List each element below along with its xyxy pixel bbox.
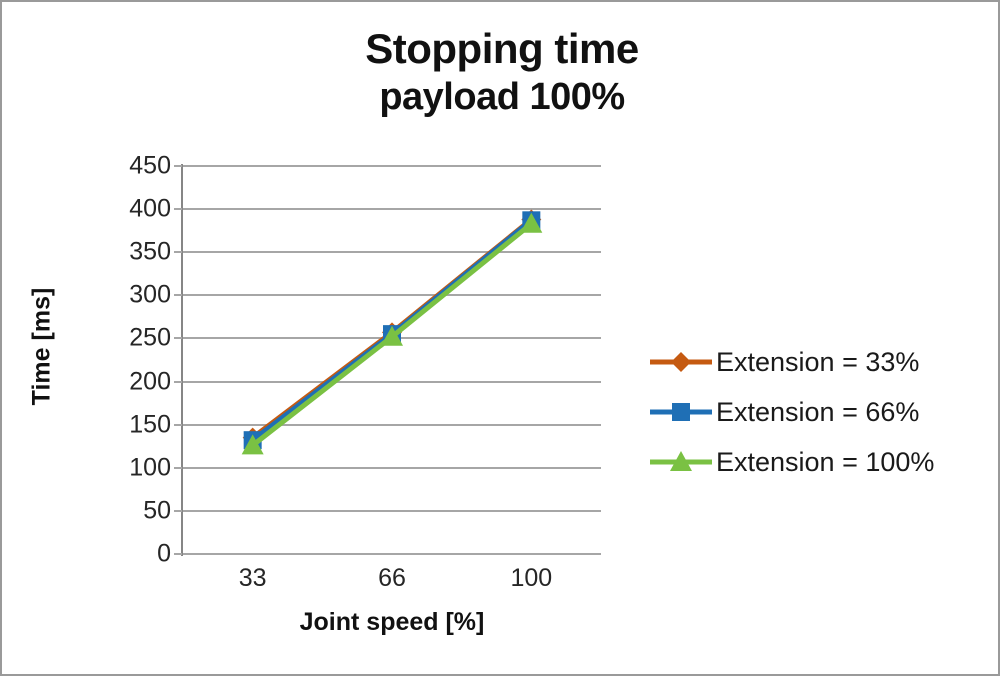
y-axis-tick-label: 400: [105, 195, 171, 224]
legend-item-label: Extension = 100%: [712, 447, 934, 478]
y-axis-title: Time [ms]: [28, 277, 57, 417]
y-tick-mark: [174, 467, 182, 469]
legend-item-label: Extension = 66%: [712, 397, 919, 428]
legend-item-label: Extension = 33%: [712, 347, 919, 378]
y-axis-tick-label: 100: [105, 453, 171, 482]
x-axis-tick-label: 33: [239, 564, 267, 593]
y-tick-mark: [174, 424, 182, 426]
y-tick-mark: [174, 553, 182, 555]
y-axis-tick-label: 300: [105, 281, 171, 310]
y-axis-tick-label: 250: [105, 324, 171, 353]
chart-title-block: Stopping time payload 100%: [2, 24, 1000, 120]
legend-item[interactable]: Extension = 100%: [650, 437, 990, 487]
triangle-marker-icon: [650, 450, 712, 474]
y-tick-mark: [174, 381, 182, 383]
chart-legend: Extension = 33%Extension = 66%Extension …: [650, 337, 990, 487]
y-axis-tick-labels: 450400350300250200150100500: [105, 166, 171, 554]
y-tick-mark: [174, 337, 182, 339]
y-axis-tick-label: 50: [105, 496, 171, 525]
chart-title: Stopping time: [2, 24, 1000, 74]
x-axis-title: Joint speed [%]: [183, 608, 601, 637]
chart-subtitle: payload 100%: [2, 74, 1000, 120]
y-axis-tick-label: 200: [105, 367, 171, 396]
y-tick-mark: [174, 208, 182, 210]
x-axis-tick-label: 66: [378, 564, 406, 593]
chart-screenshot: Stopping time payload 100% 4504003503002…: [0, 0, 1000, 676]
y-tick-mark: [174, 294, 182, 296]
square-marker-icon: [650, 400, 712, 424]
legend-item[interactable]: Extension = 66%: [650, 387, 990, 437]
series-layer: [183, 166, 601, 554]
y-axis-tick-label: 0: [105, 540, 171, 569]
x-axis-tick-label: 100: [510, 564, 552, 593]
y-axis-tick-label: 150: [105, 410, 171, 439]
series-3: [242, 213, 543, 455]
legend-item[interactable]: Extension = 33%: [650, 337, 990, 387]
y-axis-tick-label: 350: [105, 238, 171, 267]
y-axis-tick-label: 450: [105, 152, 171, 181]
plot-area: [183, 166, 601, 554]
y-tick-mark: [174, 251, 182, 253]
y-tick-mark: [174, 165, 182, 167]
y-tick-mark: [174, 510, 182, 512]
x-axis-tick-labels: 3366100: [183, 564, 601, 600]
diamond-marker-icon: [650, 350, 712, 374]
